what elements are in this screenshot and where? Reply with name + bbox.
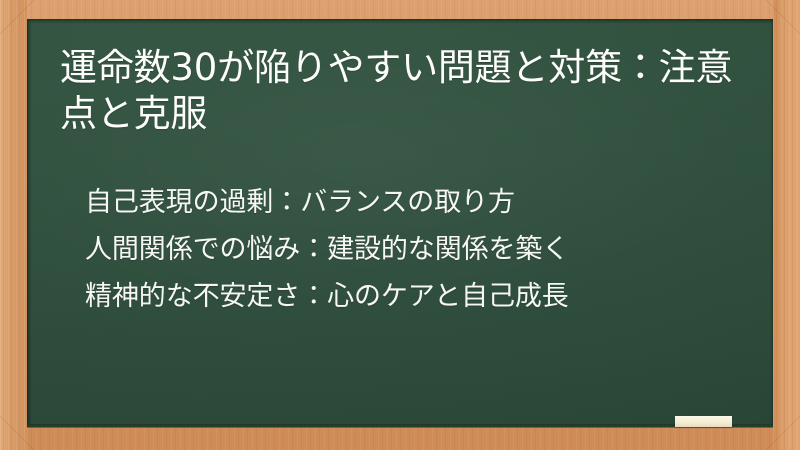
- chalkboard-surface: 運命数30が陥りやすい問題と対策：注意点と克服 自己表現の過剰：バランスの取り方…: [27, 19, 773, 427]
- list-item: 精神的な不安定さ：心のケアと自己成長: [85, 273, 765, 320]
- chalk-stick-icon: [675, 416, 732, 427]
- frame-right-rail: [773, 0, 800, 450]
- board-bottom-shadow: [27, 424, 773, 428]
- board-content: 運命数30が陥りやすい問題と対策：注意点と克服 自己表現の過剰：バランスの取り方…: [27, 19, 773, 427]
- frame-left-rail: [0, 0, 27, 450]
- list-item: 自己表現の過剰：バランスの取り方: [85, 179, 765, 226]
- slide-title: 運命数30が陥りやすい問題と対策：注意点と克服: [60, 45, 760, 137]
- chalkboard-slide: 運命数30が陥りやすい問題と対策：注意点と克服 自己表現の過剰：バランスの取り方…: [0, 0, 800, 450]
- list-item: 人間関係での悩み：建設的な関係を築く: [85, 226, 765, 273]
- bullet-list: 自己表現の過剰：バランスの取り方 人間関係での悩み：建設的な関係を築く 精神的な…: [85, 179, 765, 320]
